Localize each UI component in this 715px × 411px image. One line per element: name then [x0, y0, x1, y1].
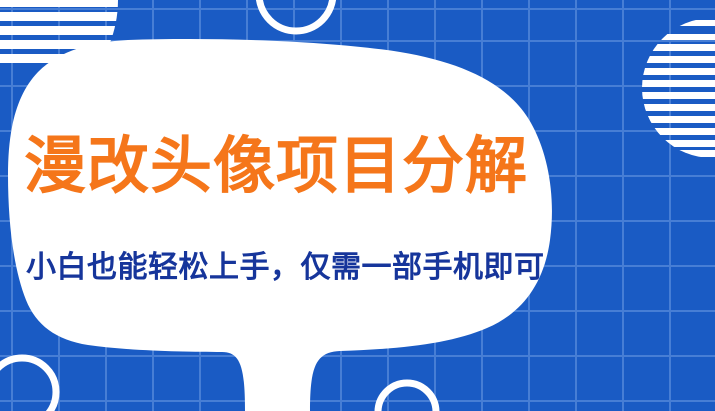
- poster-graphics: [0, 0, 715, 411]
- poster-canvas: 漫改头像项目分解 小白也能轻松上手，仅需一部手机即可: [0, 0, 715, 411]
